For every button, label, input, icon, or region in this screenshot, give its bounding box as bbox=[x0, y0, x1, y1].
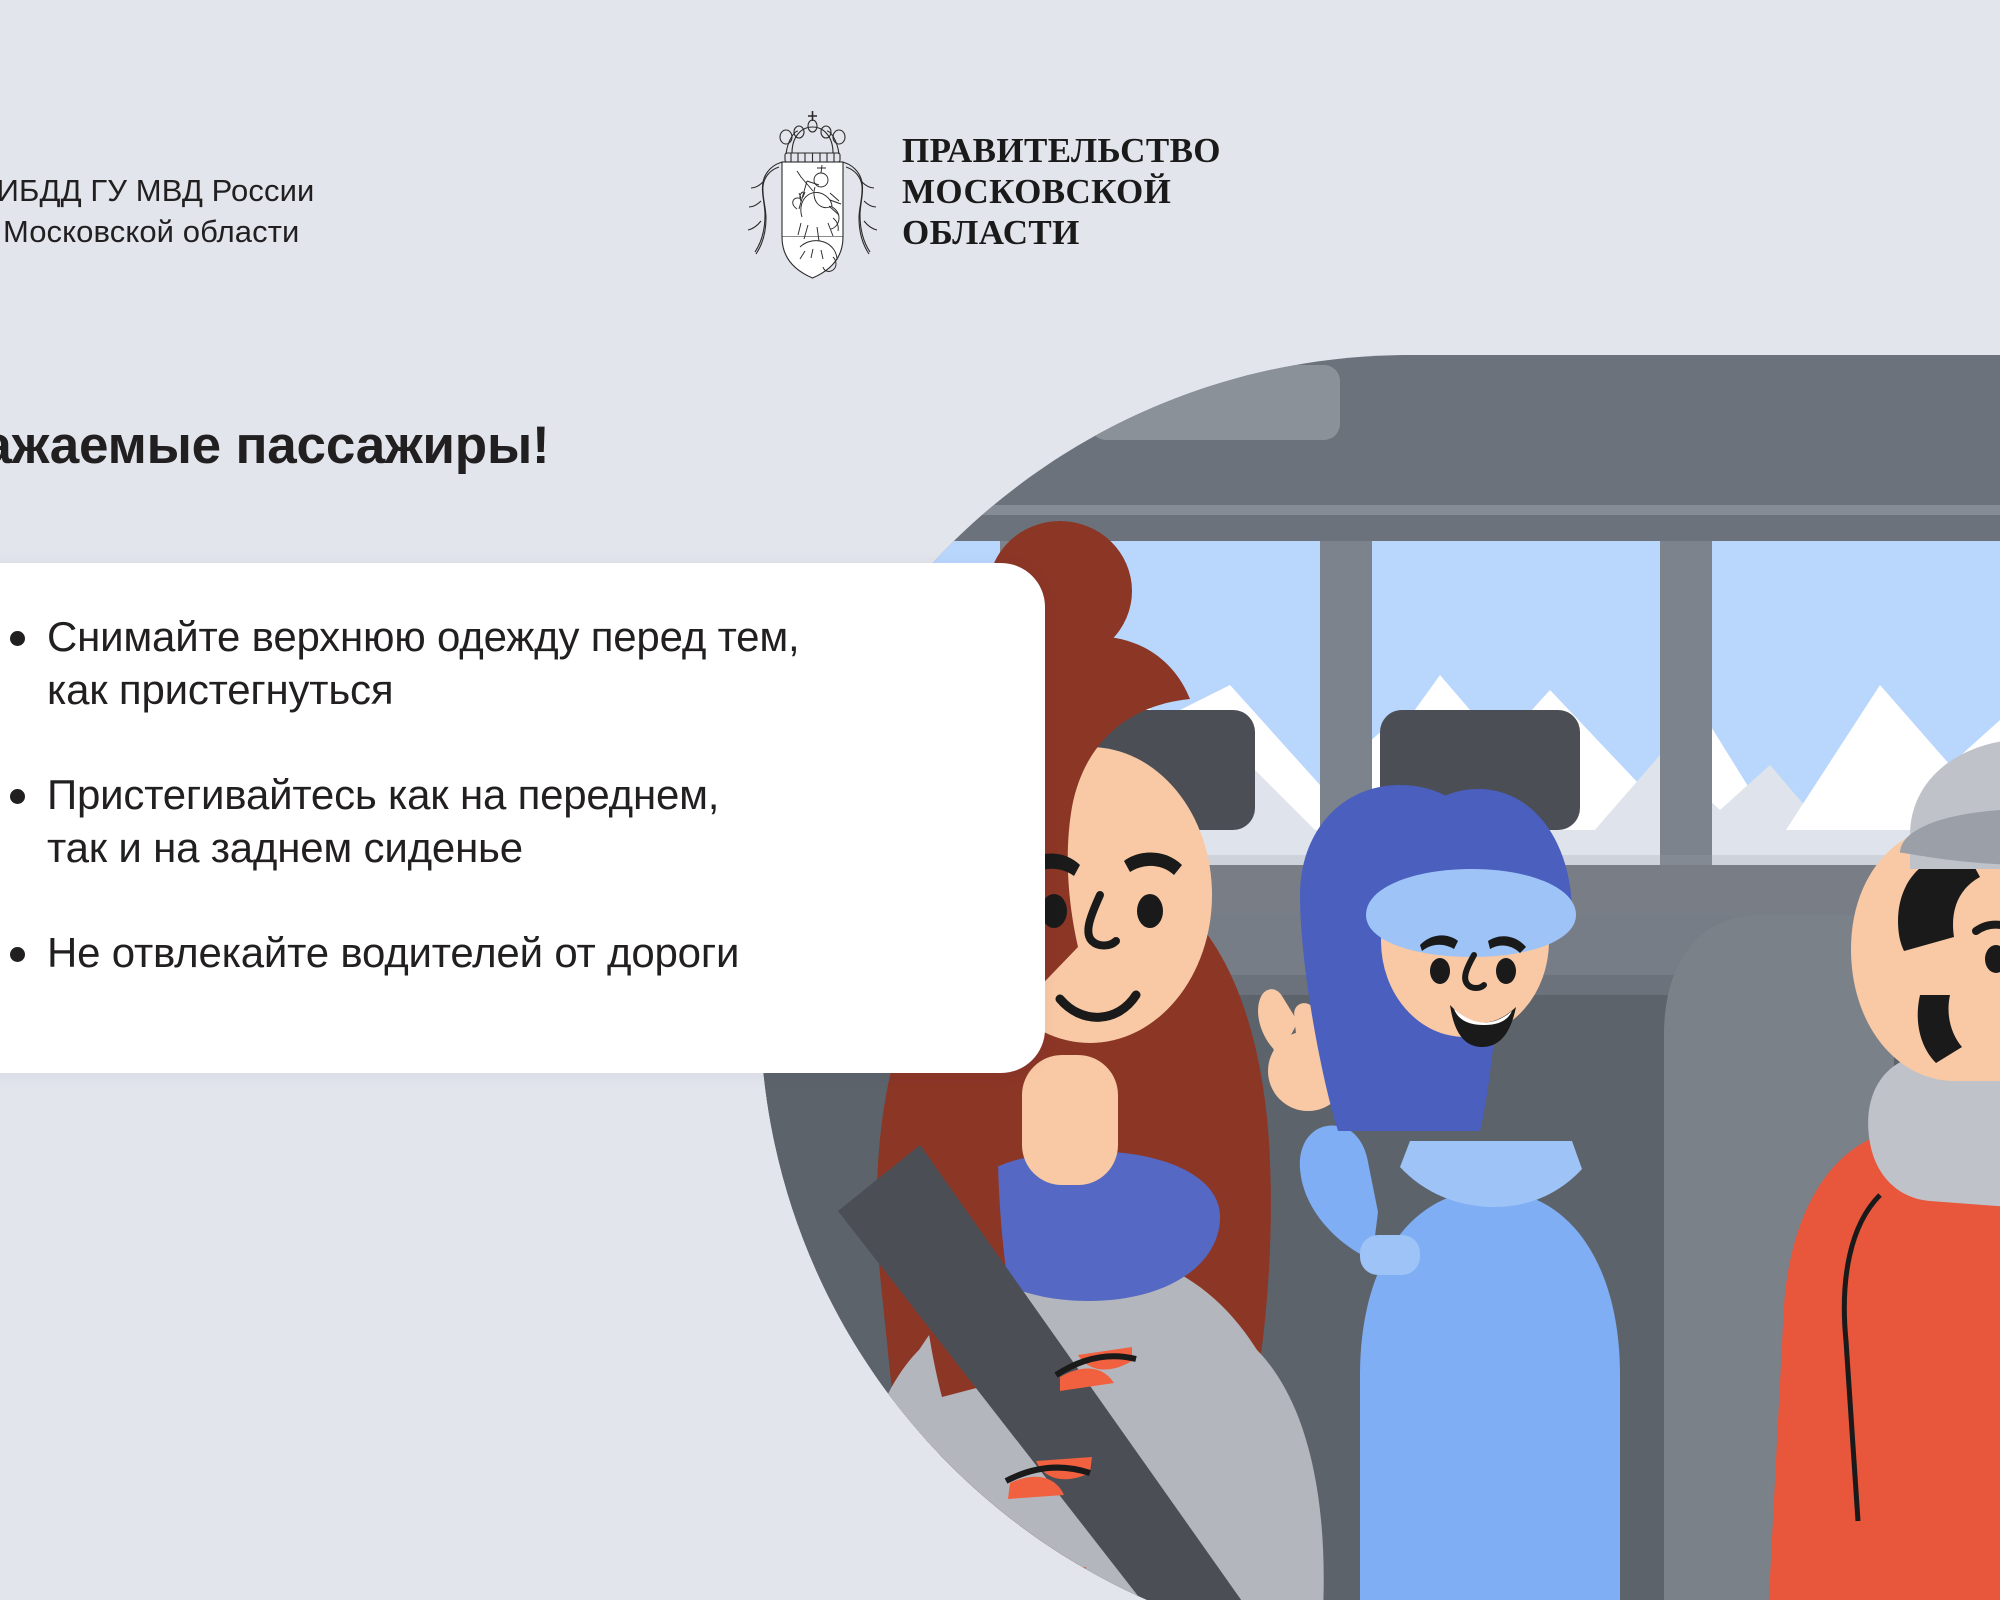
tip-line-1: Пристегивайтесь как на переднем, bbox=[47, 771, 719, 818]
tip-text: Пристегивайтесь как на переднем, так и н… bbox=[47, 769, 719, 875]
government-lockup: ПРАВИТЕЛЬСТВО МОСКОВСКОЙ ОБЛАСТИ bbox=[745, 105, 1221, 280]
list-item: Не отвлекайте водителей от дороги bbox=[10, 927, 1005, 980]
agency-title-line1: УГИБДД ГУ МВД России bbox=[0, 170, 380, 211]
agency-title: УГИБДД ГУ МВД России по Московской облас… bbox=[0, 170, 380, 252]
bullet-dot-icon bbox=[10, 947, 25, 962]
tips-list: Снимайте верхнюю одежду перед тем, как п… bbox=[10, 611, 1005, 980]
government-title-line1: ПРАВИТЕЛЬСТВО bbox=[902, 131, 1221, 172]
tip-text: Снимайте верхнюю одежду перед тем, как п… bbox=[47, 611, 799, 717]
bullet-dot-icon bbox=[10, 789, 25, 804]
poster-canvas: УГИБДД ГУ МВД России по Московской облас… bbox=[0, 0, 2000, 1600]
tip-line-1: Снимайте верхнюю одежду перед тем, bbox=[47, 613, 799, 660]
list-item: Снимайте верхнюю одежду перед тем, как п… bbox=[10, 611, 1005, 717]
tip-line-2: как пристегнуться bbox=[47, 666, 393, 713]
page-title: Уважаемые пассажиры! bbox=[0, 415, 549, 476]
bullet-dot-icon bbox=[10, 631, 25, 646]
government-title: ПРАВИТЕЛЬСТВО МОСКОВСКОЙ ОБЛАСТИ bbox=[902, 131, 1221, 254]
government-title-line3: ОБЛАСТИ bbox=[902, 213, 1221, 254]
tips-card: Снимайте верхнюю одежду перед тем, как п… bbox=[0, 563, 1045, 1073]
tip-line-2: так и на заднем сиденье bbox=[47, 824, 523, 871]
list-item: Пристегивайтесь как на переднем, так и н… bbox=[10, 769, 1005, 875]
government-title-line2: МОСКОВСКОЙ bbox=[902, 172, 1221, 213]
tip-line-1: Не отвлекайте водителей от дороги bbox=[47, 929, 739, 976]
tip-text: Не отвлекайте водителей от дороги bbox=[47, 927, 739, 980]
moscow-oblast-coat-of-arms-icon bbox=[745, 105, 880, 280]
agency-title-line2: по Московской области bbox=[0, 211, 380, 252]
